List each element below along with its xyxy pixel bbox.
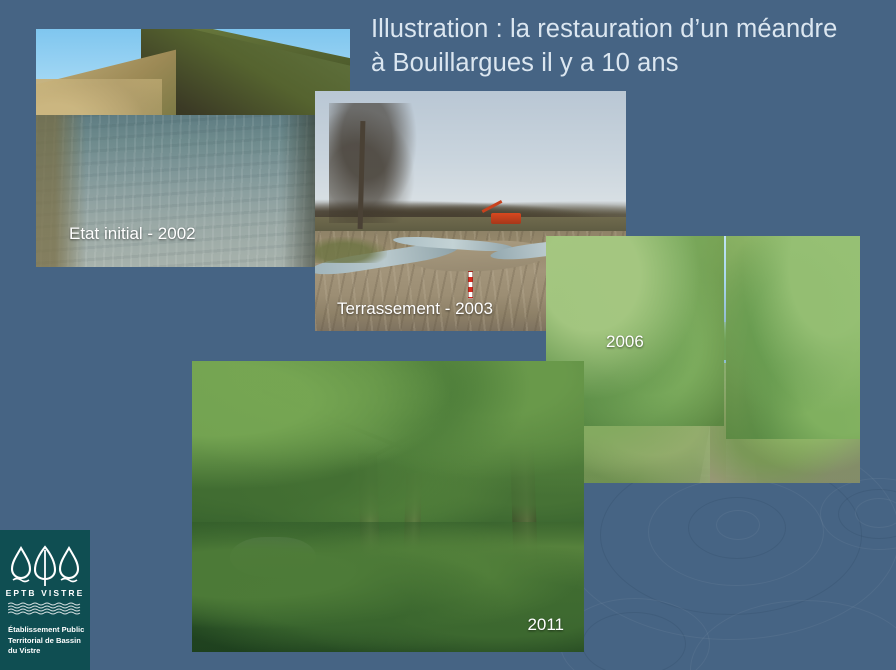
photo2-excavator: [491, 213, 521, 224]
photo3-caption: 2006: [606, 332, 644, 352]
photo2-remaining-grass: [315, 237, 387, 263]
photo4-caption: 2011: [527, 615, 564, 635]
logo-subtitle: Établissement Public Territorial de Bass…: [8, 625, 86, 657]
photo-2011[interactable]: 2011: [192, 361, 584, 652]
photo-etat-initial-2002[interactable]: Etat initial - 2002: [36, 29, 350, 267]
eptb-vistre-logo-panel[interactable]: EPTB VISTRE Établissement Public Territo…: [0, 530, 90, 670]
photo1-water-edges: [36, 115, 350, 267]
photo2-caption: Terrassement - 2003: [337, 299, 493, 319]
photo2-large-tree: [329, 103, 419, 223]
photo3-right-canopy: [726, 236, 860, 439]
photo1-caption: Etat initial - 2002: [69, 224, 196, 244]
waves-icon: [8, 602, 82, 616]
photo-2006[interactable]: 2006: [546, 236, 860, 483]
logo-emblem: [10, 544, 80, 588]
photo2-survey-pole: [468, 271, 473, 299]
presentation-slide: Illustration : la restauration d’un méan…: [0, 0, 896, 670]
page-title: Illustration : la restauration d’un méan…: [371, 12, 876, 80]
photo4-understory: [192, 522, 584, 652]
water-drop-icon: [12, 548, 30, 578]
logo-wordmark: EPTB VISTRE: [0, 588, 90, 598]
water-drop-icon: [60, 548, 78, 578]
